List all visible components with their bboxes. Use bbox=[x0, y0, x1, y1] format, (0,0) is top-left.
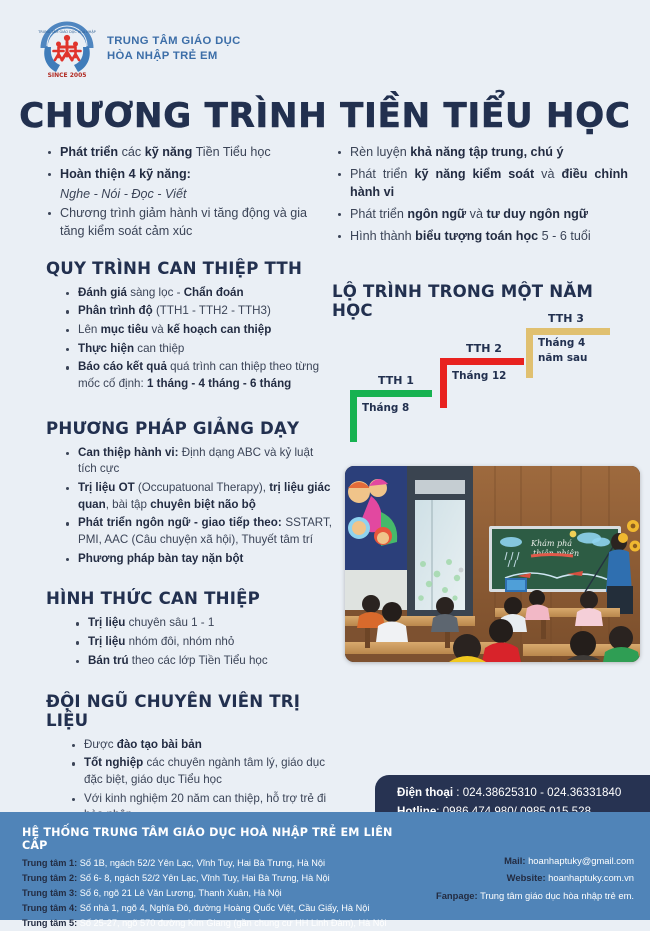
section-heading: HÌNH THỨC CAN THIỆP bbox=[46, 589, 332, 608]
hinh-thuc-list: Trị liệu chuyên sâu 1 - 1 Trị liệu nhóm … bbox=[46, 615, 332, 669]
page-title: CHƯƠNG TRÌNH TIỀN TIỂU HỌC bbox=[0, 96, 650, 136]
bold-text: Phát triển bbox=[60, 145, 118, 159]
poster-page: TRUNG TÂM GIÁO DỤC HÒA NHẬP SINCE 2005 T… bbox=[0, 0, 650, 920]
roadmap-heading: LỘ TRÌNH TRONG MỘT NĂM HỌC bbox=[332, 282, 636, 320]
footer-website-row[interactable]: Website: hoanhaptuky.com.vn bbox=[436, 869, 634, 886]
skills-subline: Nghe - Nói - Đọc - Viết bbox=[46, 187, 332, 201]
step-month-line-2: năm sau bbox=[538, 352, 587, 365]
fanpage-label: Fanpage: bbox=[436, 890, 478, 901]
bold-text: Trị liệu bbox=[88, 635, 125, 648]
footer-center-row: Trung tâm 4: Số nhà 1, ngõ 4, Nghĩa Đô, … bbox=[22, 901, 412, 916]
bold-text: Phương pháp bàn tay nặn bột bbox=[78, 552, 243, 565]
list-item: Phát triển ngôn ngữ và tư duy ngôn ngữ bbox=[336, 206, 628, 224]
phuong-phap-list: Can thiệp hành vi: Định dạng ABC và kỷ l… bbox=[46, 445, 332, 568]
phone-label: Điện thoại bbox=[397, 786, 453, 799]
footer-center-row: Trung tâm 3: Số 6, ngõ 21 Lê Văn Lương, … bbox=[22, 886, 412, 901]
step-bar-horizontal bbox=[526, 328, 610, 335]
center-label: Trung tâm 5: bbox=[22, 918, 77, 928]
plain-text: chuyên sâu 1 - 1 bbox=[125, 616, 214, 629]
mail-value[interactable]: hoanhaptuky@gmail.com bbox=[525, 855, 634, 866]
step-tag: TTH 1 bbox=[378, 374, 414, 387]
left-column: Phát triển các kỹ năng Tiền Tiểu học Hoà… bbox=[46, 144, 332, 826]
bold-text: Thực hiện bbox=[78, 342, 134, 355]
list-item: Hình thành biểu tượng toán học 5 - 6 tuổ… bbox=[336, 228, 628, 246]
footer-fanpage-row[interactable]: Fanpage: Trung tâm giáo dục hòa nhập trẻ… bbox=[436, 887, 634, 904]
plain-text: (TTH1 - TTH2 - TTH3) bbox=[153, 304, 271, 317]
plain-text: sàng lọc - bbox=[127, 286, 184, 299]
section-doi-ngu: ĐỘI NGŨ CHUYÊN VIÊN TRỊ LIỆU Được đào tạ… bbox=[46, 692, 332, 824]
center-label: Trung tâm 4: bbox=[22, 903, 77, 913]
plain-text: theo các lớp Tiền Tiểu học bbox=[129, 654, 268, 667]
intro-left-list: Phát triển các kỹ năng Tiền Tiểu học Hoà… bbox=[46, 144, 332, 184]
center-address: Số 1B, ngách 52/2 Yên Lạc, Vĩnh Tuy, Hai… bbox=[77, 858, 325, 868]
section-heading: PHƯƠNG PHÁP GIẢNG DẠY bbox=[46, 419, 332, 438]
svg-text:TRUNG TÂM GIÁO DỤC HÒA NHẬP: TRUNG TÂM GIÁO DỤC HÒA NHẬP bbox=[37, 29, 95, 34]
step-tag: TTH 3 bbox=[548, 312, 584, 325]
step-month-line-1: Tháng 4 bbox=[538, 337, 585, 350]
bold-text: kế hoạch can thiệp bbox=[167, 323, 271, 336]
plain-text: (Occupatuonal Therapy), bbox=[135, 481, 269, 494]
bold-text: đào tạo bài bản bbox=[117, 738, 202, 751]
bold-text: chuyên biệt não bộ bbox=[150, 498, 256, 511]
step-month: Tháng 8 bbox=[362, 402, 409, 415]
phone-value: : 024.38625310 - 024.36331840 bbox=[453, 786, 621, 799]
roadmap-step-3: TTH 3 Tháng 4 năm sau bbox=[526, 328, 636, 386]
bold-text: Bán trú bbox=[88, 654, 129, 667]
center-label: Trung tâm 2: bbox=[22, 873, 77, 883]
intro-right-list: Rèn luyện khả năng tập trung, chú ý Phát… bbox=[336, 144, 628, 245]
center-address: Số 25-27, ngõ 570 đường Kim Giang (gần c… bbox=[77, 918, 386, 928]
center-address: Số 6, ngõ 21 Lê Văn Lương, Thanh Xuân, H… bbox=[77, 888, 282, 898]
plain-text: 5 - 6 tuổi bbox=[538, 229, 591, 243]
step-tag: TTH 2 bbox=[466, 342, 502, 355]
footer-center-row: Trung tâm 1: Số 1B, ngách 52/2 Yên Lạc, … bbox=[22, 856, 412, 871]
list-item: Thực hiện can thiệp bbox=[64, 341, 332, 358]
step-bar-vertical bbox=[526, 328, 533, 378]
list-item: Lên mục tiêu và kế hoạch can thiệp bbox=[64, 322, 332, 339]
bold-text: biểu tượng toán học bbox=[415, 229, 538, 243]
center-label: Trung tâm 1: bbox=[22, 858, 77, 868]
bold-text: Hoàn thiện 4 kỹ năng: bbox=[60, 167, 191, 181]
doi-ngu-list: Được đào tạo bài bản Tốt nghiệp các chuy… bbox=[46, 737, 332, 824]
contact-phone-row: Điện thoại : 024.38625310 - 024.36331840 bbox=[397, 784, 650, 803]
bold-text: 1 tháng - 4 tháng - 6 tháng bbox=[147, 377, 291, 390]
fanpage-value[interactable]: Trung tâm giáo dục hòa nhập trẻ em. bbox=[478, 890, 634, 901]
brand-name: TRUNG TÂM GIÁO DỤC HÒA NHẬP TRẺ EM bbox=[107, 34, 241, 65]
plain-text: nhóm đôi, nhóm nhỏ bbox=[125, 635, 234, 648]
section-quy-trinh: QUY TRÌNH CAN THIỆP TTH Đánh giá sàng lọ… bbox=[46, 259, 332, 393]
plain-text: Lên bbox=[78, 323, 101, 336]
bold-text: Báo cáo kết quả bbox=[78, 360, 167, 373]
plain-text: Phát triển bbox=[350, 167, 414, 181]
list-item: Can thiệp hành vi: Định dạng ABC và kỷ l… bbox=[64, 445, 332, 478]
center-label: Trung tâm 3: bbox=[22, 888, 77, 898]
step-bar-horizontal bbox=[350, 390, 432, 397]
brand-line-2: HÒA NHẬP TRẺ EM bbox=[107, 49, 241, 64]
footer-title: HỆ THỐNG TRUNG TÂM GIÁO DỤC HOÀ NHẬP TRẺ… bbox=[22, 826, 412, 852]
bold-text: Phân trình độ bbox=[78, 304, 153, 317]
right-column: Rèn luyện khả năng tập trung, chú ý Phát… bbox=[336, 144, 628, 249]
list-item: Được đào tạo bài bản bbox=[70, 737, 332, 754]
section-heading: QUY TRÌNH CAN THIỆP TTH bbox=[46, 259, 332, 278]
svg-text:Khám phá: Khám phá bbox=[530, 539, 572, 548]
footer-center-row: Trung tâm 5: Số 25-27, ngõ 570 đường Kim… bbox=[22, 916, 412, 931]
footer-band: HỆ THỐNG TRUNG TÂM GIÁO DỤC HOÀ NHẬP TRẺ… bbox=[0, 812, 650, 920]
plain-text: và bbox=[534, 167, 561, 181]
brand-line-1: TRUNG TÂM GIÁO DỤC bbox=[107, 34, 241, 49]
since-text: SINCE 2005 bbox=[48, 72, 87, 79]
section-phuong-phap: PHƯƠNG PHÁP GIẢNG DẠY Can thiệp hành vi:… bbox=[46, 419, 332, 568]
list-item: Bán trú theo các lớp Tiền Tiểu học bbox=[74, 653, 332, 670]
bold-text: Phát triển ngôn ngữ - giao tiếp theo: bbox=[78, 516, 282, 529]
website-label: Website: bbox=[507, 872, 546, 883]
bold-text: khả năng tập trung, chú ý bbox=[410, 145, 563, 159]
list-item: Chương trình giảm hành vi tăng động và g… bbox=[46, 205, 332, 241]
intro-left-list-2: Chương trình giảm hành vi tăng động và g… bbox=[46, 205, 332, 241]
plain-text: Phát triển bbox=[350, 207, 407, 221]
footer-mail-row[interactable]: Mail: hoanhaptuky@gmail.com bbox=[436, 852, 634, 869]
step-bar-vertical bbox=[440, 358, 447, 408]
classroom-photo: Khám phá thiên nhiên bbox=[345, 466, 640, 662]
roadmap-section: LỘ TRÌNH TRONG MỘT NĂM HỌC TTH 1 Tháng 8… bbox=[336, 282, 636, 442]
plain-text: và bbox=[148, 323, 167, 336]
list-item: Trị liệu nhóm đôi, nhóm nhỏ bbox=[74, 634, 332, 651]
mail-label: Mail: bbox=[504, 855, 525, 866]
list-item: Phát triển ngôn ngữ - giao tiếp theo: SS… bbox=[64, 515, 332, 548]
list-item: Tốt nghiệp các chuyên ngành tâm lý, giáo… bbox=[70, 755, 332, 788]
list-item: Trị liệu OT (Occupatuonal Therapy), trị … bbox=[64, 480, 332, 513]
plain-text: Được bbox=[84, 738, 117, 751]
step-bar-vertical bbox=[350, 390, 357, 442]
section-hinh-thuc: HÌNH THỨC CAN THIỆP Trị liệu chuyên sâu … bbox=[46, 589, 332, 669]
bold-text: Đánh giá bbox=[78, 286, 127, 299]
plain-text: can thiệp bbox=[134, 342, 184, 355]
plain-text: , bài tập bbox=[106, 498, 150, 511]
step-month: Tháng 12 bbox=[452, 370, 506, 383]
plain-text: các bbox=[118, 145, 145, 159]
list-item: Báo cáo kết quả quá trình can thiệp theo… bbox=[64, 359, 332, 392]
bold-text: kỹ năng bbox=[145, 145, 193, 159]
bold-text: Can thiệp hành vi: bbox=[78, 446, 178, 459]
bold-text: Chẩn đoán bbox=[184, 286, 244, 299]
bold-text: ngôn ngữ bbox=[407, 207, 466, 221]
bold-text: tư duy ngôn ngữ bbox=[487, 207, 588, 221]
list-item: Hoàn thiện 4 kỹ năng: bbox=[46, 166, 332, 184]
bold-text: Tốt nghiệp bbox=[84, 756, 143, 769]
section-heading: ĐỘI NGŨ CHUYÊN VIÊN TRỊ LIỆU bbox=[46, 692, 332, 730]
list-item: Rèn luyện khả năng tập trung, chú ý bbox=[336, 144, 628, 162]
brand-header: TRUNG TÂM GIÁO DỤC HÒA NHẬP SINCE 2005 T… bbox=[36, 18, 241, 80]
quy-trinh-list: Đánh giá sàng lọc - Chẩn đoán Phân trình… bbox=[46, 285, 332, 393]
bold-text: Trị liệu OT bbox=[78, 481, 135, 494]
plain-text: Hình thành bbox=[350, 229, 415, 243]
list-item: Phát triển các kỹ năng Tiền Tiểu học bbox=[46, 144, 332, 162]
bold-text: mục tiêu bbox=[101, 323, 149, 336]
list-item: Đánh giá sàng lọc - Chẩn đoán bbox=[64, 285, 332, 302]
list-item: Trị liệu chuyên sâu 1 - 1 bbox=[74, 615, 332, 632]
center-address: Số nhà 1, ngõ 4, Nghĩa Đô, đường Hoàng Q… bbox=[77, 903, 369, 913]
plain-text: Rèn luyện bbox=[350, 145, 410, 159]
footer-online-contacts: Mail: hoanhaptuky@gmail.com Website: hoa… bbox=[436, 852, 634, 904]
family-hands-logo-icon: TRUNG TÂM GIÁO DỤC HÒA NHẬP SINCE 2005 bbox=[36, 18, 98, 80]
list-item: Phát triển kỹ năng kiểm soát và điều chỉ… bbox=[336, 166, 628, 202]
list-item: Phương pháp bàn tay nặn bột bbox=[64, 551, 332, 568]
step-bar-horizontal bbox=[440, 358, 524, 365]
footer-center-row: Trung tâm 2: Số 6- 8, ngách 52/2 Yên Lạc… bbox=[22, 871, 412, 886]
bold-text: Trị liệu bbox=[88, 616, 125, 629]
list-item: Phân trình độ (TTH1 - TTH2 - TTH3) bbox=[64, 303, 332, 320]
plain-text: Tiền Tiểu học bbox=[192, 145, 270, 159]
website-value[interactable]: hoanhaptuky.com.vn bbox=[546, 872, 634, 883]
bold-text: kỹ năng kiểm soát bbox=[414, 167, 534, 181]
footer-addresses: HỆ THỐNG TRUNG TÂM GIÁO DỤC HOÀ NHẬP TRẺ… bbox=[22, 826, 412, 931]
center-address: Số 6- 8, ngách 52/2 Yên Lạc, Vĩnh Tuy, H… bbox=[77, 873, 329, 883]
plain-text: và bbox=[466, 207, 486, 221]
